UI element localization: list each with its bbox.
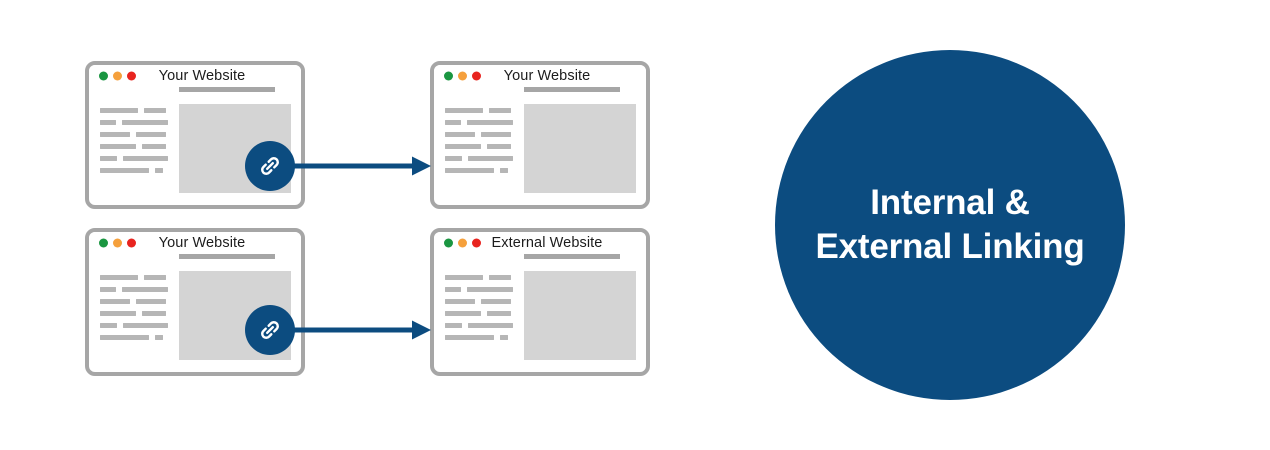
- traffic-light-green-icon: [444, 72, 453, 81]
- text-line-row: [100, 168, 168, 173]
- content-text-placeholder: [445, 271, 513, 360]
- traffic-light-red-icon: [127, 72, 136, 81]
- window-titlebar: External Website: [434, 232, 646, 259]
- text-line-row: [445, 287, 513, 292]
- content-text-placeholder: [100, 104, 168, 193]
- window-content: [434, 259, 646, 372]
- traffic-light-green-icon: [99, 72, 108, 81]
- text-line-row: [100, 108, 168, 113]
- traffic-light-green-icon: [99, 239, 108, 248]
- text-line-row: [445, 156, 513, 161]
- traffic-light-orange-icon: [458, 239, 467, 248]
- text-line-row: [100, 335, 168, 340]
- window-titlebar: Your Website: [434, 65, 646, 92]
- internal-link-badge[interactable]: [245, 141, 295, 191]
- text-line-row: [100, 275, 168, 280]
- traffic-light-green-icon: [444, 239, 453, 248]
- callout-line-2: External Linking: [815, 225, 1084, 269]
- window-content: [434, 92, 646, 205]
- chain-link-icon: [256, 152, 284, 180]
- text-line-row: [445, 168, 513, 173]
- diagram-canvas: Your Website: [0, 0, 1270, 450]
- text-line-row: [445, 108, 513, 113]
- text-line-row: [445, 132, 513, 137]
- text-line-row: [100, 323, 168, 328]
- content-text-placeholder: [445, 104, 513, 193]
- traffic-light-red-icon: [472, 72, 481, 81]
- traffic-light-orange-icon: [113, 72, 122, 81]
- text-line-row: [445, 335, 513, 340]
- callout-circle: Internal & External Linking: [775, 50, 1125, 400]
- text-line-row: [100, 144, 168, 149]
- arrow-right-icon: [290, 319, 432, 341]
- text-line-row: [445, 299, 513, 304]
- window-traffic-lights: [99, 72, 136, 81]
- text-line-row: [100, 287, 168, 292]
- traffic-light-orange-icon: [113, 239, 122, 248]
- callout-line-1: Internal &: [870, 183, 1029, 222]
- external-link-arrow: [290, 319, 432, 341]
- content-image-placeholder: [524, 104, 636, 193]
- text-line-row: [100, 311, 168, 316]
- browser-window-internal-target: Your Website: [430, 61, 650, 209]
- text-line-row: [445, 275, 513, 280]
- callout-text: Internal & External Linking: [801, 181, 1098, 269]
- window-traffic-lights: [444, 239, 481, 248]
- content-text-placeholder: [100, 271, 168, 360]
- arrow-right-icon: [290, 155, 432, 177]
- window-traffic-lights: [99, 239, 136, 248]
- text-line-row: [100, 120, 168, 125]
- window-titlebar: Your Website: [89, 65, 301, 92]
- text-line-row: [445, 144, 513, 149]
- text-line-row: [100, 156, 168, 161]
- text-line-row: [445, 323, 513, 328]
- traffic-light-red-icon: [472, 239, 481, 248]
- text-line-row: [100, 299, 168, 304]
- window-titlebar: Your Website: [89, 232, 301, 259]
- text-line-row: [445, 120, 513, 125]
- external-link-badge[interactable]: [245, 305, 295, 355]
- chain-link-icon: [256, 316, 284, 344]
- content-image-placeholder: [524, 271, 636, 360]
- traffic-light-red-icon: [127, 239, 136, 248]
- internal-link-arrow: [290, 155, 432, 177]
- traffic-light-orange-icon: [458, 72, 467, 81]
- window-traffic-lights: [444, 72, 481, 81]
- text-line-row: [445, 311, 513, 316]
- text-line-row: [100, 132, 168, 137]
- browser-window-external-target: External Website: [430, 228, 650, 376]
